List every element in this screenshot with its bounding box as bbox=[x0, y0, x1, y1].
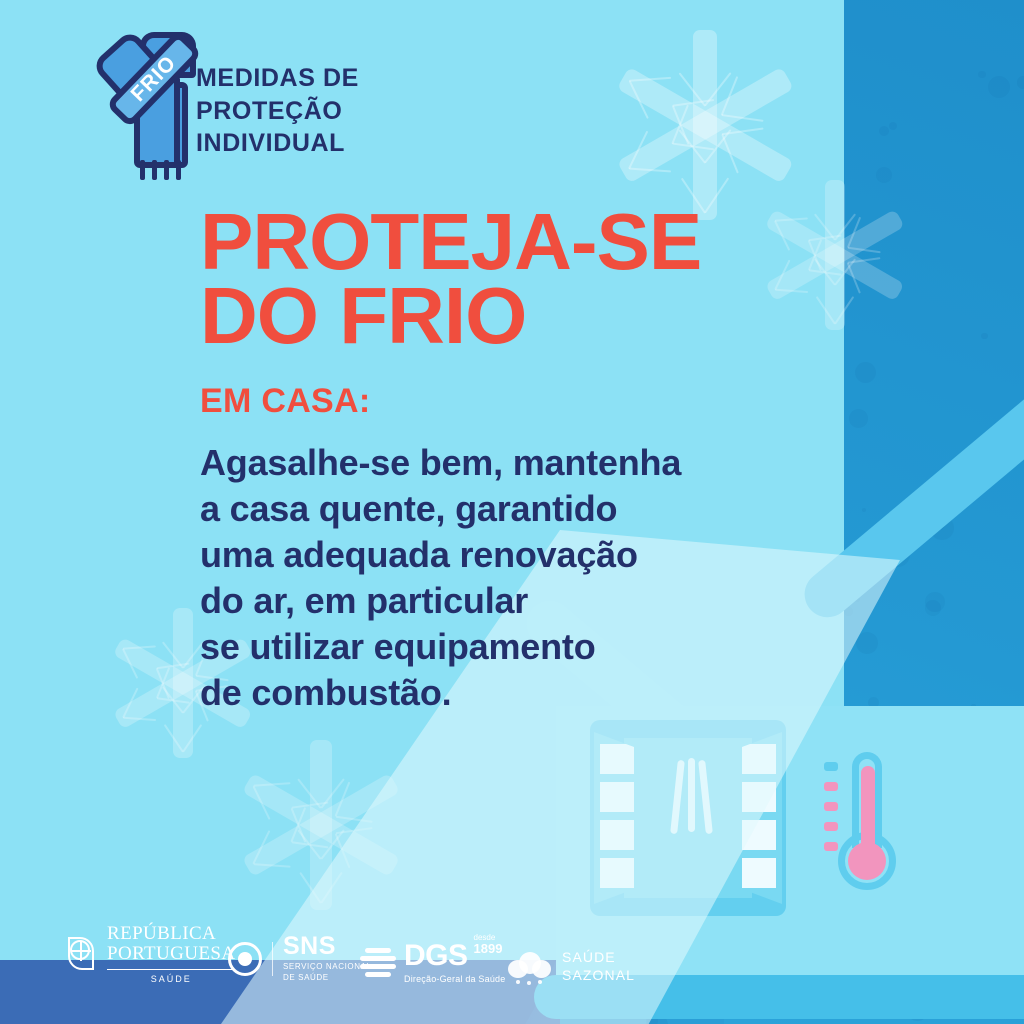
republica-portuguesa-emblem-icon bbox=[68, 937, 98, 971]
headline-line-1: PROTEJA-SE bbox=[200, 205, 701, 279]
snowflake-icon bbox=[760, 180, 910, 330]
scarf-frio-logo: FRIO bbox=[100, 18, 200, 188]
dgs-acronym: DGS bbox=[404, 941, 468, 971]
sns-ring-icon bbox=[228, 942, 262, 976]
page-title: PROTEJA-SE DO FRIO bbox=[200, 205, 701, 354]
sns-sub-1: SERVIÇO NACIONAL bbox=[283, 962, 372, 973]
sns-acronym: SNS bbox=[283, 934, 372, 959]
body-line: de combustão. bbox=[200, 670, 840, 716]
sazonal-line-1: SAÚDE bbox=[562, 949, 635, 967]
logo-dgs: DGS desde 1899 Direção-Geral da Saúde bbox=[360, 941, 505, 984]
body-line: uma adequada renovação bbox=[200, 532, 840, 578]
dgs-globe-icon bbox=[360, 946, 396, 980]
sazonal-line-2: SAZONAL bbox=[562, 967, 635, 985]
brand-title-line-2: PROTEÇÃO bbox=[196, 95, 359, 128]
footer-logo-bar: REPÚBLICA PORTUGUESA SAÚDE SNS SERVIÇO N… bbox=[0, 900, 844, 1024]
republica-line-2: PORTUGUESA bbox=[107, 944, 235, 964]
campaign-brand-title: MEDIDAS DE PROTEÇÃO INDIVIDUAL bbox=[196, 62, 359, 160]
brand-title-line-3: INDIVIDUAL bbox=[196, 127, 359, 160]
dgs-sub: Direção-Geral da Saúde bbox=[404, 974, 505, 984]
body-line: Agasalhe-se bem, mantenha bbox=[200, 440, 840, 486]
headline-line-2: DO FRIO bbox=[200, 279, 701, 353]
body-copy: Agasalhe-se bem, mantenha a casa quente,… bbox=[200, 440, 840, 716]
logo-divider bbox=[272, 942, 273, 976]
dgs-since-year: 1899 bbox=[474, 942, 503, 957]
cloud-rain-icon bbox=[508, 950, 552, 984]
sns-sub-2: DE SAÚDE bbox=[283, 973, 372, 984]
subheading: EM CASA: bbox=[200, 382, 371, 421]
republica-line-1: REPÚBLICA bbox=[107, 924, 235, 944]
thermometer-icon bbox=[820, 752, 914, 902]
logo-saude-sazonal: SAÚDE SAZONAL bbox=[508, 949, 635, 984]
logo-republica-portuguesa: REPÚBLICA PORTUGUESA SAÚDE bbox=[68, 924, 235, 984]
brand-title-line-1: MEDIDAS DE bbox=[196, 62, 359, 95]
logo-sns: SNS SERVIÇO NACIONAL DE SAÚDE bbox=[228, 934, 372, 984]
body-line: a casa quente, garantido bbox=[200, 486, 840, 532]
body-line: se utilizar equipamento bbox=[200, 624, 840, 670]
body-line: do ar, em particular bbox=[200, 578, 840, 624]
poster-canvas: FRIO MEDIDAS DE PROTEÇÃO INDIVIDUAL PROT… bbox=[0, 0, 1024, 1024]
republica-sub: SAÚDE bbox=[107, 969, 235, 984]
